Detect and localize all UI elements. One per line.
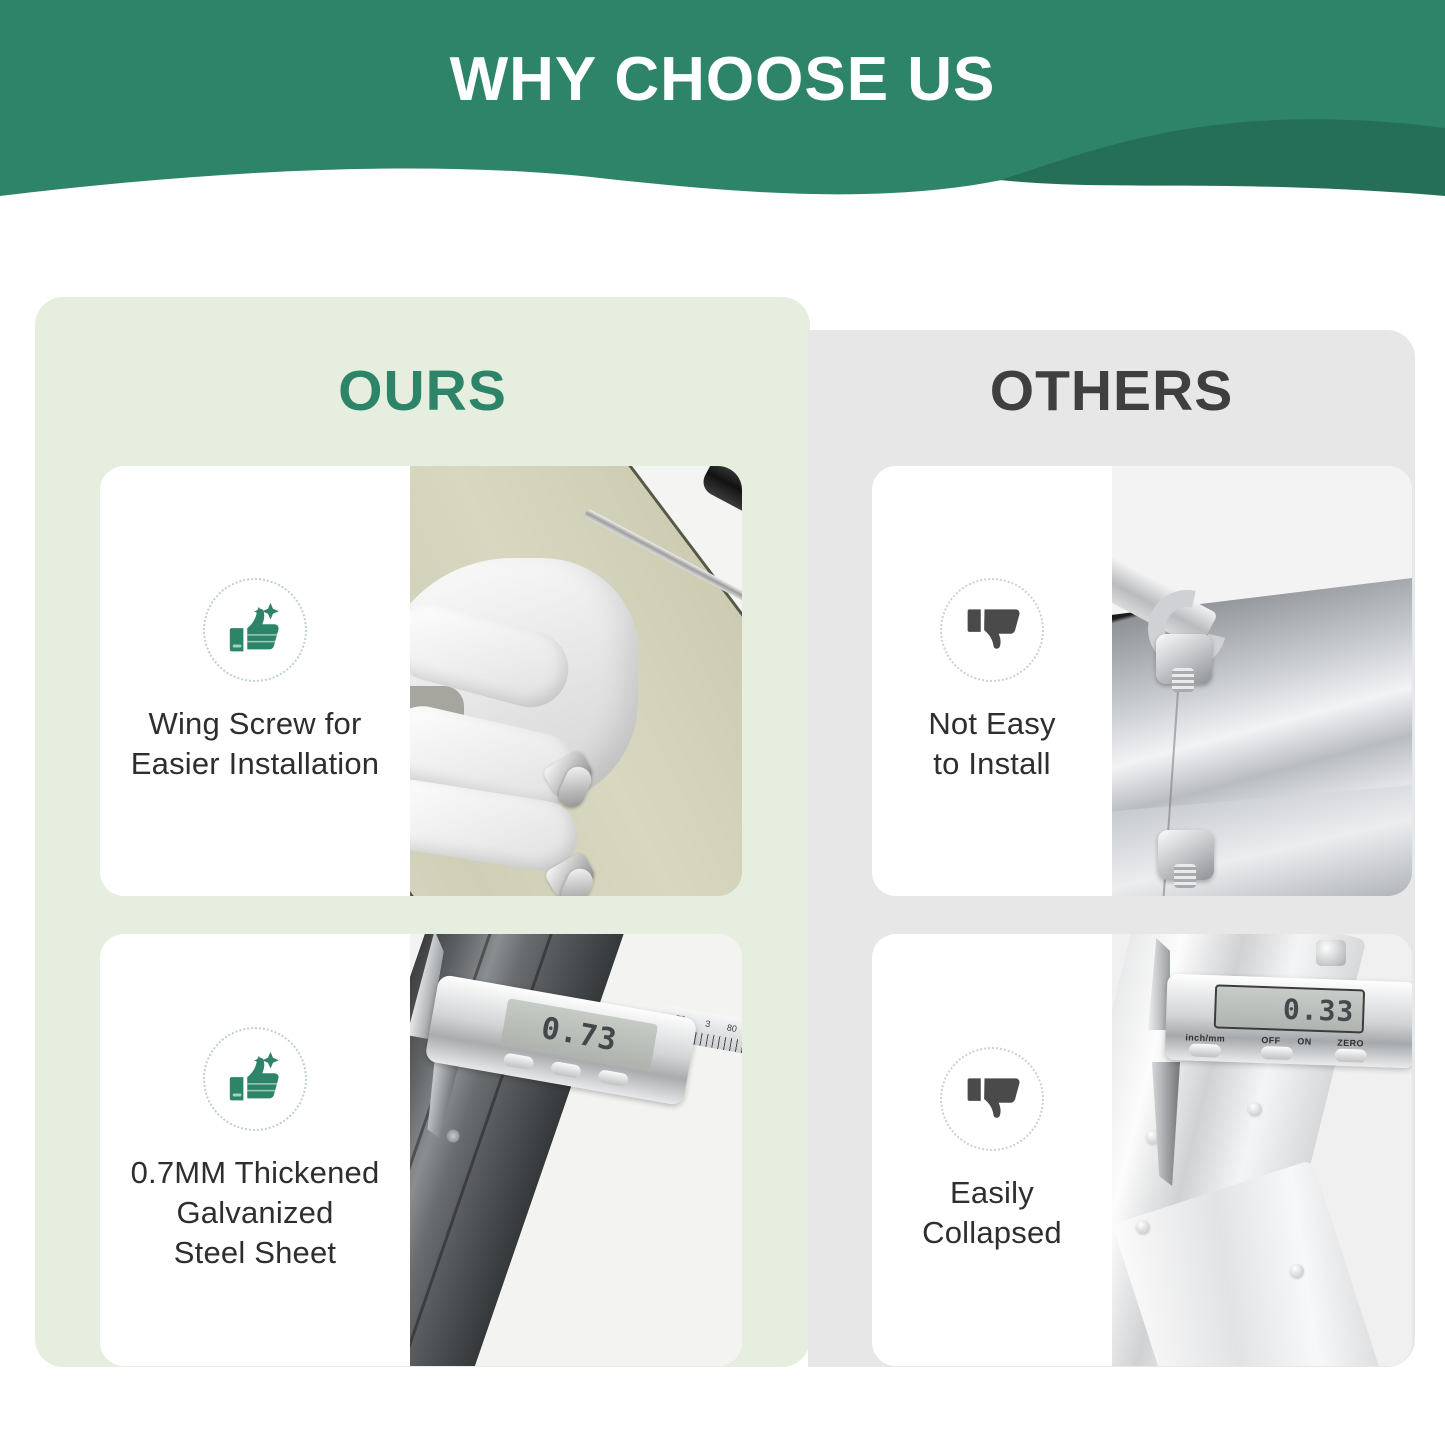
hex-bolt	[1156, 634, 1212, 684]
rivet	[1290, 1264, 1304, 1278]
caliper-lcd-screen: 0.33	[1214, 984, 1365, 1033]
hex-bolt	[1158, 830, 1214, 880]
caliper-button[interactable]	[550, 1061, 582, 1079]
caliper-light-post-photo: 0.33 inch/mm OFF ON ZERO	[1112, 934, 1412, 1366]
page-header: WHY CHOOSE US	[0, 0, 1445, 205]
caliper-button-label-inchmm: inch/mm	[1185, 1032, 1225, 1043]
caliper-button[interactable]	[503, 1052, 535, 1070]
card-text-column: 0.7MM Thickened Galvanized Steel Sheet	[100, 934, 410, 1366]
wing-screw-photo	[410, 466, 742, 896]
caliper-button-inchmm[interactable]	[1189, 1043, 1221, 1057]
rivet	[1248, 1102, 1262, 1116]
card-label: Not Easy to Install	[928, 704, 1055, 785]
thumbs-up-sparkle-icon	[203, 578, 307, 682]
caliper-dark-post-photo: 70 3 80 0.73	[410, 934, 742, 1366]
post-hole	[445, 1128, 462, 1145]
thumbs-down-icon	[940, 1047, 1044, 1151]
caliper-button-label-zero: ZERO	[1337, 1038, 1364, 1049]
thumbs-up-glyph	[224, 1048, 286, 1110]
screwdriver-handle	[699, 466, 742, 539]
card-others-easily-collapsed[interactable]: Easily Collapsed 0.33 inch/mm OFF ON ZER…	[872, 934, 1412, 1366]
card-label: Wing Screw for Easier Installation	[131, 704, 380, 785]
caliper-reading: 0.73	[539, 1010, 620, 1058]
thumbs-up-glyph	[224, 599, 286, 661]
ours-heading: OURS	[35, 358, 810, 424]
caliper-button-label-on: ON	[1297, 1036, 1312, 1046]
card-ours-wing-screw[interactable]: Wing Screw for Easier Installation	[100, 466, 742, 896]
page-title: WHY CHOOSE US	[0, 44, 1445, 115]
scale-number: 3	[704, 1019, 711, 1030]
card-text-column: Not Easy to Install	[872, 466, 1112, 896]
card-text-column: Wing Screw for Easier Installation	[100, 466, 410, 896]
gloved-hand	[410, 558, 638, 808]
thumbs-down-glyph	[962, 1069, 1022, 1129]
others-heading: OTHERS	[808, 358, 1415, 424]
caliper-button-off-on[interactable]	[1261, 1046, 1293, 1060]
card-others-not-easy-install[interactable]: Not Easy to Install	[872, 466, 1412, 896]
caliper-button-label-off: OFF	[1261, 1035, 1281, 1046]
rivet	[1136, 1220, 1150, 1234]
caliper-reading: 0.33	[1282, 992, 1355, 1027]
card-label: 0.7MM Thickened Galvanized Steel Sheet	[131, 1153, 380, 1274]
bolt-thread	[1172, 668, 1194, 692]
thumbs-down-icon	[940, 578, 1044, 682]
card-ours-thickened-steel[interactable]: 0.7MM Thickened Galvanized Steel Sheet 7…	[100, 934, 742, 1366]
card-text-column: Easily Collapsed	[872, 934, 1112, 1366]
caliper-button-zero[interactable]	[1335, 1049, 1367, 1063]
wrench-bolt-photo	[1112, 466, 1412, 896]
bolt-thread	[1174, 864, 1196, 888]
scale-number: 80	[726, 1022, 738, 1034]
caliper-button[interactable]	[597, 1069, 629, 1087]
caliper-thumbscrew[interactable]	[1316, 940, 1346, 966]
thumbs-down-glyph	[962, 600, 1022, 660]
caliper-body: 0.33 inch/mm OFF ON ZERO	[1165, 974, 1412, 1069]
thumbs-up-sparkle-icon	[203, 1027, 307, 1131]
card-label: Easily Collapsed	[922, 1173, 1062, 1254]
